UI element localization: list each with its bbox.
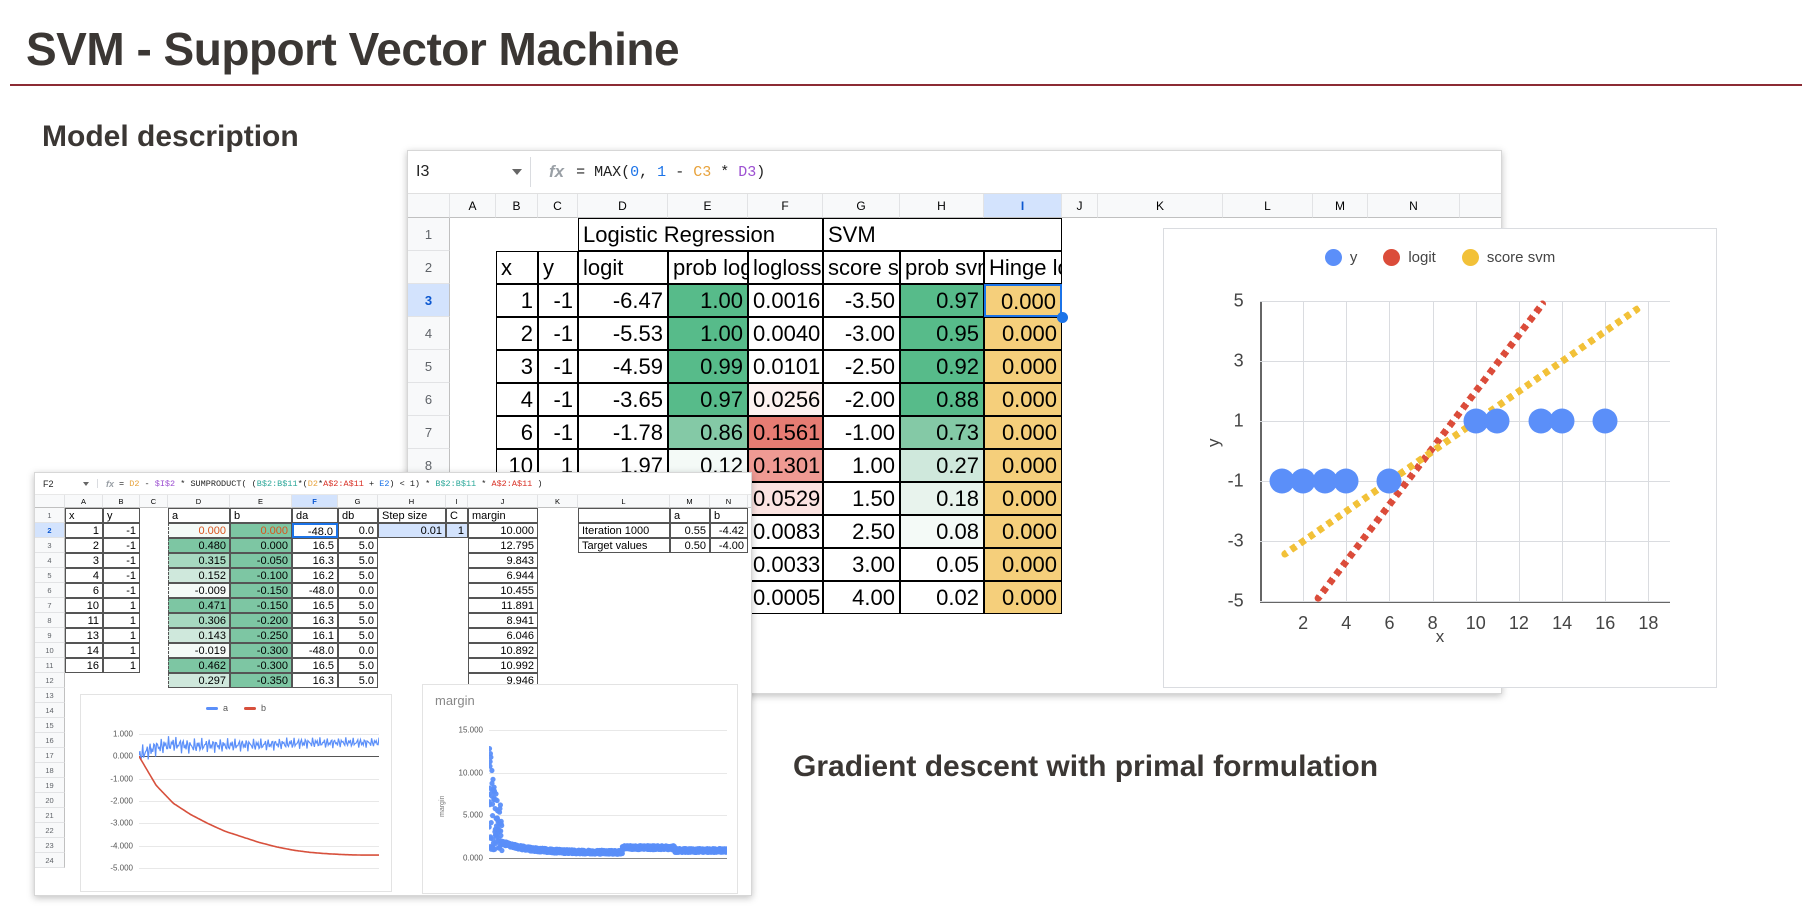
margin-point — [489, 755, 494, 760]
cell-hinge-loss[interactable]: 0.000 — [984, 383, 1062, 416]
cell-margin[interactable]: 10.000 — [468, 523, 538, 538]
cell-y[interactable]: 1 — [103, 628, 140, 643]
cell-hinge-loss[interactable]: 0.000 — [984, 416, 1062, 449]
summary-header-b[interactable]: b — [710, 508, 748, 523]
cell-x[interactable]: 10 — [65, 598, 103, 613]
row-header-9[interactable]: 9 — [35, 628, 65, 643]
margin-point — [489, 820, 494, 825]
column-header-F[interactable]: F — [748, 194, 823, 218]
cell-prob-svm[interactable]: 0.73 — [900, 416, 984, 449]
margin-point — [495, 798, 500, 803]
row-header-19[interactable]: 19 — [35, 778, 65, 793]
cell-y[interactable]: -1 — [538, 284, 578, 317]
cell-da[interactable]: -48.0 — [292, 583, 338, 598]
cell-hinge-loss[interactable]: 0.000 — [984, 350, 1062, 383]
column-header-H[interactable]: H — [900, 194, 984, 218]
column-label-y[interactable]: y — [538, 251, 578, 284]
chart-x-axis-label: x — [1164, 627, 1716, 647]
name-box-bottom[interactable]: F2 — [35, 479, 97, 489]
gridline-x — [1648, 301, 1649, 601]
cell-x[interactable]: 11 — [65, 613, 103, 628]
data-point — [1550, 409, 1575, 434]
cell-logit[interactable]: -3.65 — [578, 383, 668, 416]
column-header-N[interactable]: N — [1368, 194, 1460, 218]
cell-hinge-loss[interactable]: 0.000 — [984, 515, 1062, 548]
margin-chart-series — [489, 723, 727, 865]
column-label-da[interactable]: da — [292, 508, 338, 523]
cell-da[interactable]: 16.3 — [292, 673, 338, 688]
y-tick-label: -3.000 — [87, 819, 133, 828]
cell-db[interactable]: 5.0 — [338, 598, 378, 613]
cell-score-svm[interactable]: 4.00 — [823, 581, 900, 614]
row-header-4[interactable]: 4 — [408, 317, 450, 350]
cell-a[interactable]: 0.306 — [168, 613, 230, 628]
cell-a[interactable]: 0.152 — [168, 568, 230, 583]
y-tick-label: 0.000 — [435, 854, 483, 863]
row-header-16[interactable]: 16 — [35, 733, 65, 748]
cell-y[interactable]: 1 — [103, 613, 140, 628]
y-tick-label: 0.000 — [87, 752, 133, 761]
column-label-Hinge-loss[interactable]: Hinge loss — [984, 251, 1062, 284]
cell-b[interactable]: -0.300 — [230, 658, 292, 673]
cell-margin[interactable]: 9.843 — [468, 553, 538, 568]
gridline-x — [1605, 301, 1606, 601]
grid-corner — [408, 194, 450, 218]
cell-x[interactable]: 2 — [65, 538, 103, 553]
cell-margin[interactable]: 11.891 — [468, 598, 538, 613]
legend-swatch-b — [244, 707, 256, 710]
row-header-5[interactable]: 5 — [35, 568, 65, 583]
cell-logit[interactable]: -4.59 — [578, 350, 668, 383]
cell-prob-svm[interactable]: 0.05 — [900, 548, 984, 581]
cell-margin[interactable]: 12.795 — [468, 538, 538, 553]
cell-da[interactable]: 16.5 — [292, 598, 338, 613]
row-header-6[interactable]: 6 — [35, 583, 65, 598]
cell-a[interactable]: 0.000 — [168, 523, 230, 538]
summary-header-a[interactable]: a — [670, 508, 710, 523]
legend-swatch-a — [206, 707, 218, 710]
row-header-14[interactable]: 14 — [35, 703, 65, 718]
column-header-N[interactable]: N — [710, 495, 748, 508]
column-header-F[interactable]: F — [292, 495, 338, 508]
cell-db[interactable]: 5.0 — [338, 628, 378, 643]
row-header-18[interactable]: 18 — [35, 763, 65, 778]
column-header-E[interactable]: E — [668, 194, 748, 218]
column-label-db[interactable]: db — [338, 508, 378, 523]
cell-score-svm[interactable]: -3.50 — [823, 284, 900, 317]
cell-y[interactable]: 1 — [103, 658, 140, 673]
cell-y[interactable]: -1 — [103, 568, 140, 583]
cell-logloss[interactable]: 0.0016 — [748, 284, 823, 317]
chart-ab-convergence: a b 1.0000.000-1.000-2.000-3.000-4.000-5… — [80, 694, 392, 892]
cell-b[interactable]: -0.100 — [230, 568, 292, 583]
row-header-8[interactable]: 8 — [35, 613, 65, 628]
column-header-A[interactable]: A — [65, 495, 103, 508]
cell-a[interactable]: -0.009 — [168, 583, 230, 598]
row-header-1[interactable]: 1 — [408, 218, 450, 251]
cell-y[interactable]: -1 — [538, 317, 578, 350]
summary-row-label[interactable]: Iteration 1000 — [578, 523, 670, 538]
x-tick-label: 16 — [1595, 613, 1615, 634]
formula-input-top[interactable]: = MAX(0, 1 - C3 * D3) — [576, 164, 765, 181]
cell-logit[interactable]: -5.53 — [578, 317, 668, 350]
row-header-10[interactable]: 10 — [35, 643, 65, 658]
cell-db[interactable]: 5.0 — [338, 613, 378, 628]
cell-b[interactable]: -0.300 — [230, 643, 292, 658]
cell-margin[interactable]: 10.455 — [468, 583, 538, 598]
cell-x[interactable]: 6 — [496, 416, 538, 449]
y-tick-label: 5 — [1234, 291, 1244, 312]
y-tick-label: -4.000 — [87, 841, 133, 850]
column-label-x[interactable]: x — [496, 251, 538, 284]
chevron-down-icon[interactable] — [512, 169, 522, 175]
cell-db[interactable]: 5.0 — [338, 673, 378, 688]
column-header-O[interactable]: O — [748, 495, 752, 508]
cell-prob-logreg[interactable]: 1.00 — [668, 284, 748, 317]
gridline-x — [1476, 301, 1477, 601]
gridline-y — [1260, 361, 1670, 362]
cell-da[interactable]: 16.3 — [292, 613, 338, 628]
title-divider — [10, 84, 1802, 86]
cell-da[interactable]: -48.0 — [292, 643, 338, 658]
cell-da[interactable]: -48.0 — [292, 523, 338, 538]
y-tick-label: 3 — [1234, 351, 1244, 372]
cell-logloss[interactable]: 0.1301 — [748, 449, 823, 482]
cell-logloss[interactable]: 0.0256 — [748, 383, 823, 416]
selection-handle[interactable] — [1057, 312, 1068, 323]
cell-y[interactable]: -1 — [538, 383, 578, 416]
cell-db[interactable]: 0.0 — [338, 523, 378, 538]
cell-logloss[interactable]: 0.0040 — [748, 317, 823, 350]
cell-c[interactable]: 1 — [446, 523, 468, 538]
cell-margin[interactable]: 10.992 — [468, 658, 538, 673]
cell-b[interactable]: -0.250 — [230, 628, 292, 643]
column-label-Step-size[interactable]: Step size — [378, 508, 446, 523]
cell-b[interactable]: -0.200 — [230, 613, 292, 628]
cell-x[interactable]: 2 — [496, 317, 538, 350]
cell-hinge-loss[interactable]: 0.000 — [984, 482, 1062, 515]
cell-y[interactable]: -1 — [538, 416, 578, 449]
column-header-K[interactable]: K — [1098, 194, 1223, 218]
legend-item-score-svm: score svm — [1462, 249, 1555, 266]
summary-row-a[interactable]: 0.50 — [670, 538, 710, 553]
cell-prob-logreg[interactable]: 0.99 — [668, 350, 748, 383]
cell-hinge-loss[interactable]: 0.000 — [984, 581, 1062, 614]
cell-score-svm[interactable]: 3.00 — [823, 548, 900, 581]
cell-prob-logreg[interactable]: 0.86 — [668, 416, 748, 449]
cell-prob-svm[interactable]: 0.27 — [900, 449, 984, 482]
chevron-down-icon[interactable] — [83, 482, 89, 486]
row-header-11[interactable]: 11 — [35, 658, 65, 673]
row-header-3[interactable]: 3 — [35, 538, 65, 553]
function-icon: fx — [106, 479, 114, 489]
row-header-3[interactable]: 3 — [408, 284, 450, 317]
cell-a[interactable]: 0.143 — [168, 628, 230, 643]
cell-logloss[interactable]: 0.0083 — [748, 515, 823, 548]
y-tick-label: 5.000 — [435, 811, 483, 820]
row-header-7[interactable]: 7 — [408, 416, 450, 449]
margin-point — [498, 802, 503, 807]
margin-point — [490, 777, 495, 782]
divider — [97, 479, 98, 488]
cell-hinge-loss[interactable]: 0.000 — [984, 548, 1062, 581]
column-header-I[interactable]: I — [984, 194, 1062, 218]
row-header-1[interactable]: 1 — [35, 508, 65, 523]
column-header-D[interactable]: D — [578, 194, 668, 218]
summary-row-b[interactable]: -4.00 — [710, 538, 748, 553]
cell-x[interactable]: 4 — [65, 568, 103, 583]
cell-da[interactable]: 16.1 — [292, 628, 338, 643]
cell-a[interactable]: 0.471 — [168, 598, 230, 613]
cell-y[interactable]: -1 — [538, 350, 578, 383]
chart-plot-area: -5-3-113524681012141618 — [1260, 301, 1670, 601]
cell-x[interactable]: 1 — [496, 284, 538, 317]
formula-bar-top[interactable]: I3 fx = MAX(0, 1 - C3 * D3) — [408, 151, 1501, 194]
x-tick-label: 8 — [1428, 613, 1438, 634]
cell-a[interactable]: 0.462 — [168, 658, 230, 673]
column-header-G[interactable]: G — [338, 495, 378, 508]
column-header-I[interactable]: I — [446, 495, 468, 508]
cell-x[interactable]: 16 — [65, 658, 103, 673]
cell-y[interactable]: -1 — [103, 583, 140, 598]
cell-hinge-loss[interactable]: 0.000 — [984, 449, 1062, 482]
ab-chart-plot-area: 1.0000.000-1.000-2.000-3.000-4.000-5.000 — [139, 725, 379, 877]
column-label-margin[interactable]: margin — [468, 508, 538, 523]
cell-prob-svm[interactable]: 0.08 — [900, 515, 984, 548]
cell-prob-logreg[interactable]: 1.00 — [668, 317, 748, 350]
cell-logit[interactable]: -1.78 — [578, 416, 668, 449]
cell-score-svm[interactable]: -2.50 — [823, 350, 900, 383]
column-header-M[interactable]: M — [1313, 194, 1368, 218]
margin-chart-plot-area: 15.00010.0005.0000.000 — [489, 723, 727, 865]
cell-logit[interactable]: -6.47 — [578, 284, 668, 317]
column-label-y[interactable]: y — [103, 508, 140, 523]
row-header-4[interactable]: 4 — [35, 553, 65, 568]
x-tick-label: 2 — [1298, 613, 1308, 634]
cell-hinge-loss[interactable]: 0.000 — [984, 284, 1062, 317]
column-header-G[interactable]: G — [823, 194, 900, 218]
cell-prob-svm[interactable]: 0.95 — [900, 317, 984, 350]
legend-dot-logit — [1383, 249, 1400, 266]
column-header-D[interactable]: D — [168, 495, 230, 508]
column-header-B[interactable]: B — [103, 495, 140, 508]
legend-item-b: b — [244, 703, 266, 713]
legend-item-y: y — [1325, 249, 1358, 266]
axis-left — [1260, 301, 1262, 601]
cell-logloss[interactable]: 0.0101 — [748, 350, 823, 383]
cell-a[interactable]: 0.315 — [168, 553, 230, 568]
row-header-13[interactable]: 13 — [35, 688, 65, 703]
cell-score-svm[interactable]: 1.50 — [823, 482, 900, 515]
cell-y[interactable]: 1 — [103, 643, 140, 658]
grid-corner — [35, 495, 65, 508]
cell-score-svm[interactable]: 1.00 — [823, 449, 900, 482]
summary-row-label[interactable]: Target values — [578, 538, 670, 553]
row-header-24[interactable]: 24 — [35, 853, 65, 868]
cell-b[interactable]: 0.000 — [230, 523, 292, 538]
column-header-E[interactable]: E — [230, 495, 292, 508]
cell-b[interactable]: 0.000 — [230, 538, 292, 553]
cell-db[interactable]: 5.0 — [338, 538, 378, 553]
row-header-7[interactable]: 7 — [35, 598, 65, 613]
y-tick-label: -2.000 — [87, 797, 133, 806]
gridline-y — [1260, 541, 1670, 542]
data-point — [1377, 469, 1402, 494]
cell-b[interactable]: -0.350 — [230, 673, 292, 688]
cell-step-size[interactable]: 0.01 — [378, 523, 446, 538]
column-header-L[interactable]: L — [1223, 194, 1313, 218]
cell-db[interactable]: 5.0 — [338, 568, 378, 583]
column-header-L[interactable]: L — [578, 495, 670, 508]
cell-logloss[interactable]: 0.0033 — [748, 548, 823, 581]
cell-prob-svm[interactable]: 0.02 — [900, 581, 984, 614]
legend-dot-y — [1325, 249, 1342, 266]
cell-da[interactable]: 16.5 — [292, 658, 338, 673]
cell-x[interactable]: 4 — [496, 383, 538, 416]
group-header-svm[interactable]: SVM — [823, 218, 1062, 251]
cell-db[interactable]: 5.0 — [338, 658, 378, 673]
cell-y[interactable]: -1 — [103, 523, 140, 538]
x-tick-label: 4 — [1341, 613, 1351, 634]
row-header-2[interactable]: 2 — [408, 251, 450, 284]
column-header-J[interactable]: J — [468, 495, 538, 508]
summary-row-a[interactable]: 0.55 — [670, 523, 710, 538]
column-label-score-svm[interactable]: score svm — [823, 251, 900, 284]
legend-label-logit: logit — [1408, 249, 1436, 266]
y-tick-label: -5.000 — [87, 864, 133, 873]
cell-logloss[interactable]: 0.0005 — [748, 581, 823, 614]
formula-bar-bottom[interactable]: F2 fx = D2 - $I$2 * SUMPRODUCT( (B$2:B$1… — [35, 473, 751, 495]
legend-label-y: y — [1350, 249, 1358, 266]
cell-margin[interactable]: 8.941 — [468, 613, 538, 628]
row-header-12[interactable]: 12 — [35, 673, 65, 688]
row-header-20[interactable]: 20 — [35, 793, 65, 808]
column-header-C[interactable]: C — [140, 495, 168, 508]
cell-da[interactable]: 16.5 — [292, 538, 338, 553]
cell-db[interactable]: 0.0 — [338, 643, 378, 658]
cell-prob-logreg[interactable]: 0.97 — [668, 383, 748, 416]
cell-margin[interactable]: 6.046 — [468, 628, 538, 643]
formula-input-bottom[interactable]: = D2 - $I$2 * SUMPRODUCT( (B$2:B$11*(D2*… — [119, 479, 542, 489]
gridline-x — [1389, 301, 1390, 601]
cell-x[interactable]: 3 — [496, 350, 538, 383]
row-header-21[interactable]: 21 — [35, 808, 65, 823]
cell-margin[interactable]: 10.892 — [468, 643, 538, 658]
legend-label-a: a — [223, 703, 228, 713]
cell-b[interactable]: -0.150 — [230, 583, 292, 598]
column-label-a[interactable]: a — [168, 508, 230, 523]
divider — [530, 157, 531, 187]
y-tick-label: 1.000 — [87, 729, 133, 738]
legend-dot-score-svm — [1462, 249, 1479, 266]
cell-y[interactable]: -1 — [103, 538, 140, 553]
column-label-x[interactable]: x — [65, 508, 103, 523]
y-tick-label: 15.000 — [435, 725, 483, 734]
column-label-logit[interactable]: logit — [578, 251, 668, 284]
cell-y[interactable]: 1 — [103, 598, 140, 613]
cell-score-svm[interactable]: 2.50 — [823, 515, 900, 548]
cell-x[interactable]: 3 — [65, 553, 103, 568]
cell-da[interactable]: 16.2 — [292, 568, 338, 583]
cell-db[interactable]: 0.0 — [338, 583, 378, 598]
legend-item-a: a — [206, 703, 228, 713]
series-a — [139, 736, 379, 760]
column-header-H[interactable]: H — [378, 495, 446, 508]
cell-prob-svm[interactable]: 0.88 — [900, 383, 984, 416]
column-header-J[interactable]: J — [1062, 194, 1098, 218]
group-header-logreg[interactable]: Logistic Regression — [578, 218, 823, 251]
column-header-A[interactable]: A — [450, 194, 496, 218]
cell-score-svm[interactable]: -3.00 — [823, 317, 900, 350]
cell-score-svm[interactable]: -1.00 — [823, 416, 900, 449]
column-header-M[interactable]: M — [670, 495, 710, 508]
name-box-value: F2 — [43, 479, 54, 489]
column-label-C[interactable]: C — [446, 508, 468, 523]
chart-y-axis-label: y — [1204, 439, 1224, 448]
cell-x[interactable]: 14 — [65, 643, 103, 658]
cell-score-svm[interactable]: -2.00 — [823, 383, 900, 416]
column-label-logloss[interactable]: logloss — [748, 251, 823, 284]
column-label-prob-logre[interactable]: prob logre — [668, 251, 748, 284]
cell-da[interactable]: 16.3 — [292, 553, 338, 568]
margin-point — [498, 833, 503, 838]
cell-prob-svm[interactable]: 0.18 — [900, 482, 984, 515]
cell-prob-svm[interactable]: 0.92 — [900, 350, 984, 383]
x-tick-label: 18 — [1638, 613, 1658, 634]
row-header-15[interactable]: 15 — [35, 718, 65, 733]
row-header-6[interactable]: 6 — [408, 383, 450, 416]
x-tick-label: 14 — [1552, 613, 1572, 634]
row-header-22[interactable]: 22 — [35, 823, 65, 838]
cell-margin[interactable]: 6.944 — [468, 568, 538, 583]
column-label-b[interactable]: b — [230, 508, 292, 523]
row-header-17[interactable]: 17 — [35, 748, 65, 763]
column-label-prob-svm[interactable]: prob svm — [900, 251, 984, 284]
cell-x[interactable]: 6 — [65, 583, 103, 598]
data-point — [1334, 469, 1359, 494]
cell-prob-svm[interactable]: 0.97 — [900, 284, 984, 317]
margin-point — [493, 791, 498, 796]
cell-a[interactable]: 0.480 — [168, 538, 230, 553]
margin-point — [499, 848, 504, 853]
column-header-O[interactable]: O — [1460, 194, 1502, 218]
row-header-23[interactable]: 23 — [35, 838, 65, 853]
cell-b[interactable]: -0.150 — [230, 598, 292, 613]
cell-a[interactable]: 0.297 — [168, 673, 230, 688]
row-header-5[interactable]: 5 — [408, 350, 450, 383]
column-header-B[interactable]: B — [496, 194, 538, 218]
summary-corner[interactable] — [578, 508, 670, 523]
cell-logloss[interactable]: 0.0529 — [748, 482, 823, 515]
data-point — [1593, 409, 1618, 434]
y-tick-label: 10.000 — [435, 768, 483, 777]
cell-logloss[interactable]: 0.1561 — [748, 416, 823, 449]
summary-row-b[interactable]: -4.42 — [710, 523, 748, 538]
cell-x[interactable]: 1 — [65, 523, 103, 538]
cell-y[interactable]: -1 — [103, 553, 140, 568]
legend-label-score-svm: score svm — [1487, 249, 1555, 266]
ab-chart-legend: a b — [81, 703, 391, 713]
cell-x[interactable]: 13 — [65, 628, 103, 643]
cell-a[interactable]: -0.019 — [168, 643, 230, 658]
cell-hinge-loss[interactable]: 0.000 — [984, 317, 1062, 350]
column-header-K[interactable]: K — [538, 495, 578, 508]
column-header-C[interactable]: C — [538, 194, 578, 218]
cell-b[interactable]: -0.050 — [230, 553, 292, 568]
name-box-top[interactable]: I3 — [408, 163, 530, 181]
cell-db[interactable]: 5.0 — [338, 553, 378, 568]
row-header-2[interactable]: 2 — [35, 523, 65, 538]
